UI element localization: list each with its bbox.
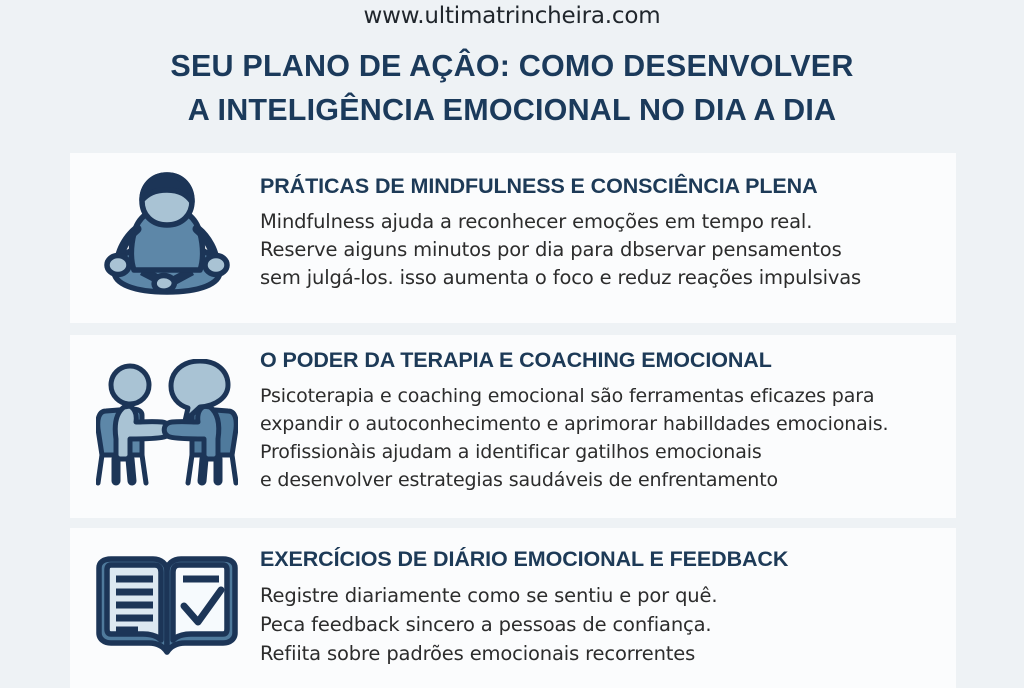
card-text-line: e desenvolver estrategias saudáveis de e… (260, 466, 942, 494)
card-text-lines: Psicoterapia e coaching emocional são fe… (260, 382, 942, 494)
card-therapy-coaching: O PODER DA TERAPIA E COACHING EMOCIONAL … (70, 335, 956, 518)
journal-book-checkmark-icon (70, 528, 260, 688)
site-url: www.ultimatrincheira.com (0, 3, 1024, 29)
card-text-lines: Registre diariamente como se sentiu e po… (260, 581, 942, 668)
journal-book-checkmark-icon-svg (93, 552, 241, 664)
card-mindfulness: PRÁTICAS DE MINDFULNESS E CONSCIÊNCIA PL… (70, 153, 956, 323)
meditation-lotus-icon-svg (104, 172, 230, 304)
card-heading: PRÁTICAS DE MINDFULNESS E CONSCIÊNCIA PL… (260, 173, 942, 199)
card-body: O PODER DA TERAPIA E COACHING EMOCIONAL … (260, 335, 956, 494)
card-text-lines: Mindfulness ajuda a reconhecer emoções e… (260, 208, 942, 292)
infographic-page: www.ultimatrincheira.com SEU PLANO DE AÇ… (0, 0, 1024, 683)
card-text-line: Refiita sobre padrões emocionais recorre… (260, 639, 942, 668)
card-text-line: Reserve aiguns minutos por dia para dbse… (260, 236, 942, 264)
cards-list: PRÁTICAS DE MINDFULNESS E CONSCIÊNCIA PL… (70, 153, 956, 688)
card-text-line: Mindfulness ajuda a reconhecer emoções e… (260, 208, 942, 236)
card-text-line: Profissionàis ajudam a identificar gatil… (260, 438, 942, 466)
card-text-line: Registre diariamente como se sentiu e po… (260, 581, 942, 610)
card-text-line: Peca feedback sincero a pessoas de confi… (260, 610, 942, 639)
card-heading: O PODER DA TERAPIA E COACHING EMOCIONAL (260, 347, 942, 373)
card-text-line: expandir o autoconhecimento e aprimorar … (260, 410, 942, 438)
therapy-conversation-icon (70, 335, 260, 518)
card-body: EXERCÍCIOS DE DIÁRIO EMOCIONAL E FEEDBAC… (260, 528, 956, 668)
card-text-line: Psicoterapia e coaching emocional são fe… (260, 382, 942, 410)
card-heading: EXERCÍCIOS DE DIÁRIO EMOCIONAL E FEEDBAC… (260, 546, 942, 572)
card-body: PRÁTICAS DE MINDFULNESS E CONSCIÊNCIA PL… (260, 153, 956, 292)
card-journal-feedback: EXERCÍCIOS DE DIÁRIO EMOCIONAL E FEEDBAC… (70, 528, 956, 688)
page-title-line-1: SEU PLANO DE AÇÂO: COMO DESENVOLVER (0, 44, 1024, 88)
page-title: SEU PLANO DE AÇÂO: COMO DESENVOLVER A IN… (0, 44, 1024, 132)
therapy-conversation-icon-svg (96, 359, 238, 495)
page-title-line-2: A INTELIGÊNCIA EMOCIONAL NO DIA A DIA (0, 88, 1024, 132)
card-text-line: sem julgá-los. isso aumenta o foco e red… (260, 264, 942, 292)
meditation-lotus-icon (70, 153, 260, 323)
